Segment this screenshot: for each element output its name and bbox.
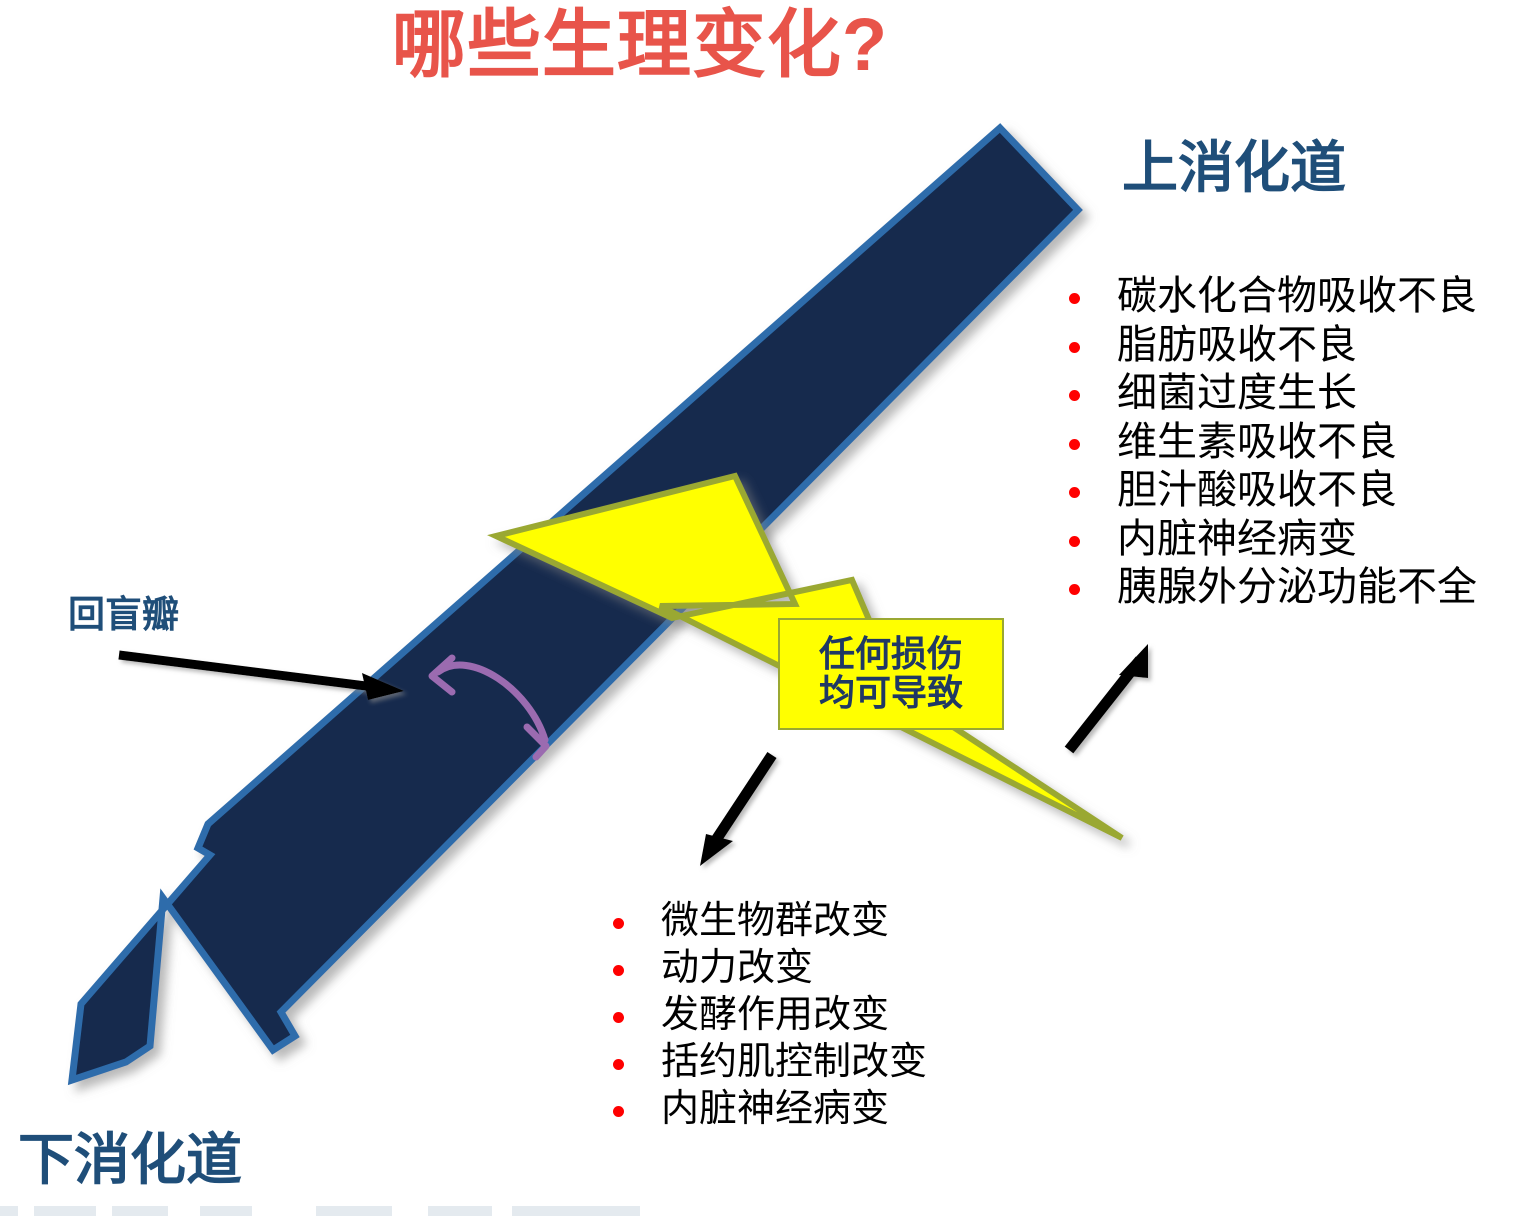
bullet-dot-icon	[1069, 487, 1080, 498]
bullet-dot-icon	[1069, 439, 1080, 450]
bullet-dot-icon	[613, 1106, 624, 1117]
upper-gi-heading: 上消化道	[1122, 140, 1346, 196]
list-item: 细菌过度生长	[1060, 369, 1477, 418]
list-item: 维生素吸收不良	[1060, 418, 1477, 467]
list-item: 胆汁酸吸收不良	[1060, 466, 1477, 515]
bullet-dot-icon	[1069, 536, 1080, 547]
lower-gi-list: 微生物群改变 动力改变 发酵作用改变 括约肌控制改变 内脏神经病变	[606, 898, 927, 1133]
bullet-dot-icon	[613, 918, 624, 929]
list-item-label: 维生素吸收不良	[1117, 420, 1397, 464]
bullet-dot-icon	[1069, 390, 1080, 401]
bullet-dot-icon	[613, 1012, 624, 1023]
list-item-label: 碳水化合物吸收不良	[1117, 274, 1477, 318]
list-item-label: 细菌过度生长	[1117, 371, 1357, 415]
callout-line-2: 均可导致	[819, 674, 963, 713]
list-item: 发酵作用改变	[606, 992, 927, 1039]
pointer-to-upper-gi-icon	[1069, 644, 1148, 750]
callout-line-1: 任何损伤	[819, 635, 963, 674]
list-item: 动力改变	[606, 945, 927, 992]
list-item-label: 内脏神经病变	[661, 1088, 889, 1130]
upper-gi-list: 碳水化合物吸收不良 脂肪吸收不良 细菌过度生长 维生素吸收不良 胆汁酸吸收不良 …	[1060, 272, 1477, 612]
bullet-dot-icon	[1069, 584, 1080, 595]
list-item-label: 胆汁酸吸收不良	[1117, 468, 1397, 512]
bullet-dot-icon	[613, 965, 624, 976]
lower-gi-heading: 下消化道	[18, 1132, 242, 1188]
list-item: 胰腺外分泌功能不全	[1060, 563, 1477, 612]
list-item: 脂肪吸收不良	[1060, 321, 1477, 370]
bullet-dot-icon	[1069, 342, 1080, 353]
bullet-dot-icon	[1069, 293, 1080, 304]
bullet-dot-icon	[613, 1059, 624, 1070]
list-item-label: 括约肌控制改变	[661, 1041, 927, 1083]
list-item: 括约肌控制改变	[606, 1039, 927, 1086]
list-item: 内脏神经病变	[606, 1086, 927, 1133]
scan-artifact	[0, 1206, 760, 1216]
ileocecal-valve-label: 回盲瓣	[68, 596, 179, 633]
list-item: 内脏神经病变	[1060, 515, 1477, 564]
list-item-label: 动力改变	[661, 947, 813, 989]
list-item-label: 发酵作用改变	[661, 994, 889, 1036]
pointer-to-lower-gi-icon	[700, 755, 772, 866]
slide-canvas: 哪些生理变化?	[0, 0, 1522, 1222]
list-item-label: 胰腺外分泌功能不全	[1117, 565, 1477, 609]
list-item: 微生物群改变	[606, 898, 927, 945]
list-item-label: 内脏神经病变	[1117, 517, 1357, 561]
list-item-label: 脂肪吸收不良	[1117, 323, 1357, 367]
list-item-label: 微生物群改变	[661, 900, 889, 942]
injury-callout-box: 任何损伤 均可导致	[778, 618, 1004, 730]
list-item: 碳水化合物吸收不良	[1060, 272, 1477, 321]
